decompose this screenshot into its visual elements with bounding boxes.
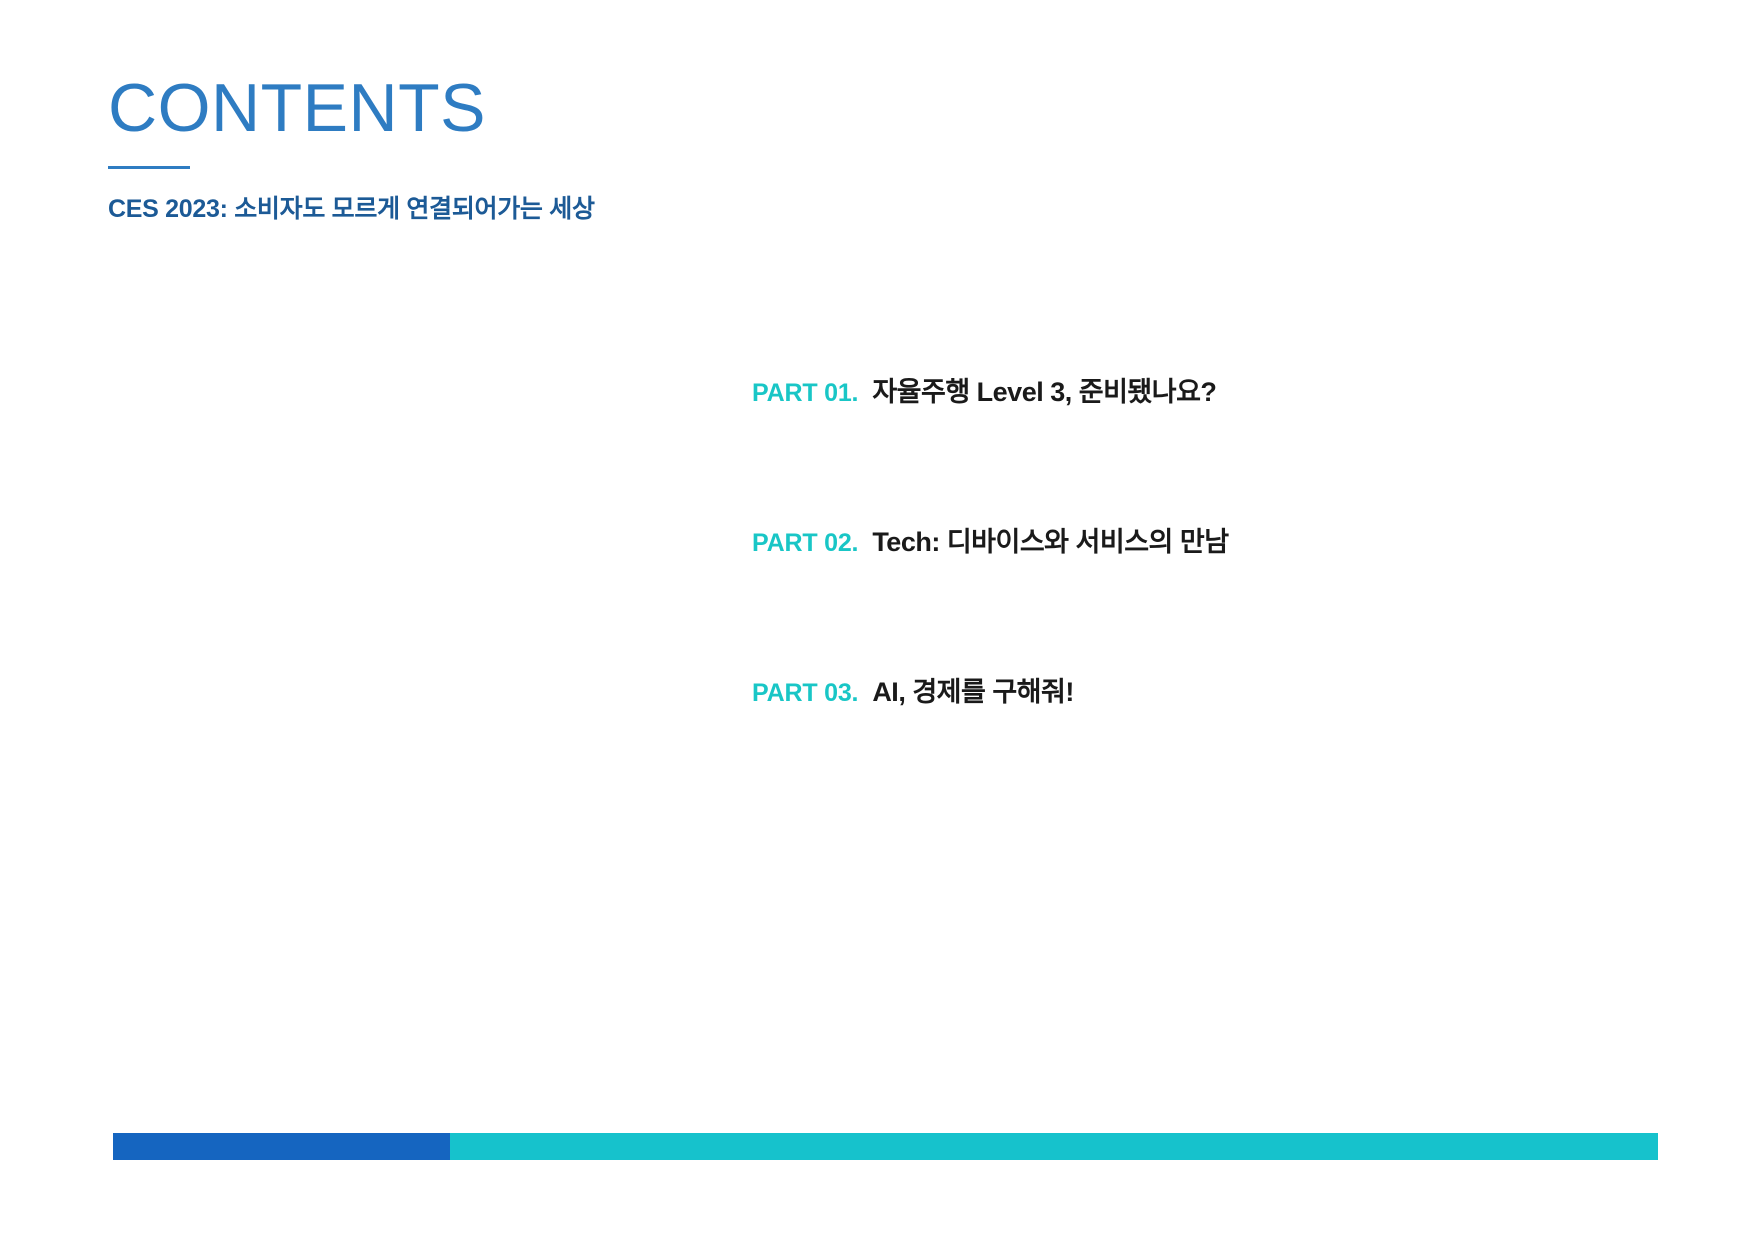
slide-header: CONTENTS CES 2023: 소비자도 모르게 연결되어가는 세상 <box>108 74 1008 225</box>
part-label-01: PART 01. <box>752 379 858 408</box>
part-title-03: AI, 경제를 구해줘! <box>872 670 1074 709</box>
list-item[interactable]: PART 01. 자율주행 Level 3, 준비됐나요? <box>752 370 1652 520</box>
footer-segment-accent <box>450 1133 1658 1160</box>
part-label-03: PART 03. <box>752 679 858 708</box>
list-item[interactable]: PART 02. Tech: 디바이스와 서비스의 만남 <box>752 520 1652 670</box>
title-divider <box>108 166 190 169</box>
part-title-02: Tech: 디바이스와 서비스의 만남 <box>872 520 1228 559</box>
part-title-01: 자율주행 Level 3, 준비됐나요? <box>872 370 1216 409</box>
page-subtitle: CES 2023: 소비자도 모르게 연결되어가는 세상 <box>108 189 1008 225</box>
footer-bar <box>113 1133 1658 1160</box>
list-item[interactable]: PART 03. AI, 경제를 구해줘! <box>752 670 1652 820</box>
slide: CONTENTS CES 2023: 소비자도 모르게 연결되어가는 세상 PA… <box>0 0 1755 1241</box>
page-title: CONTENTS <box>108 74 1008 142</box>
part-label-02: PART 02. <box>752 529 858 558</box>
contents-list: PART 01. 자율주행 Level 3, 준비됐나요? PART 02. T… <box>752 370 1652 820</box>
footer-segment-primary <box>113 1133 450 1160</box>
